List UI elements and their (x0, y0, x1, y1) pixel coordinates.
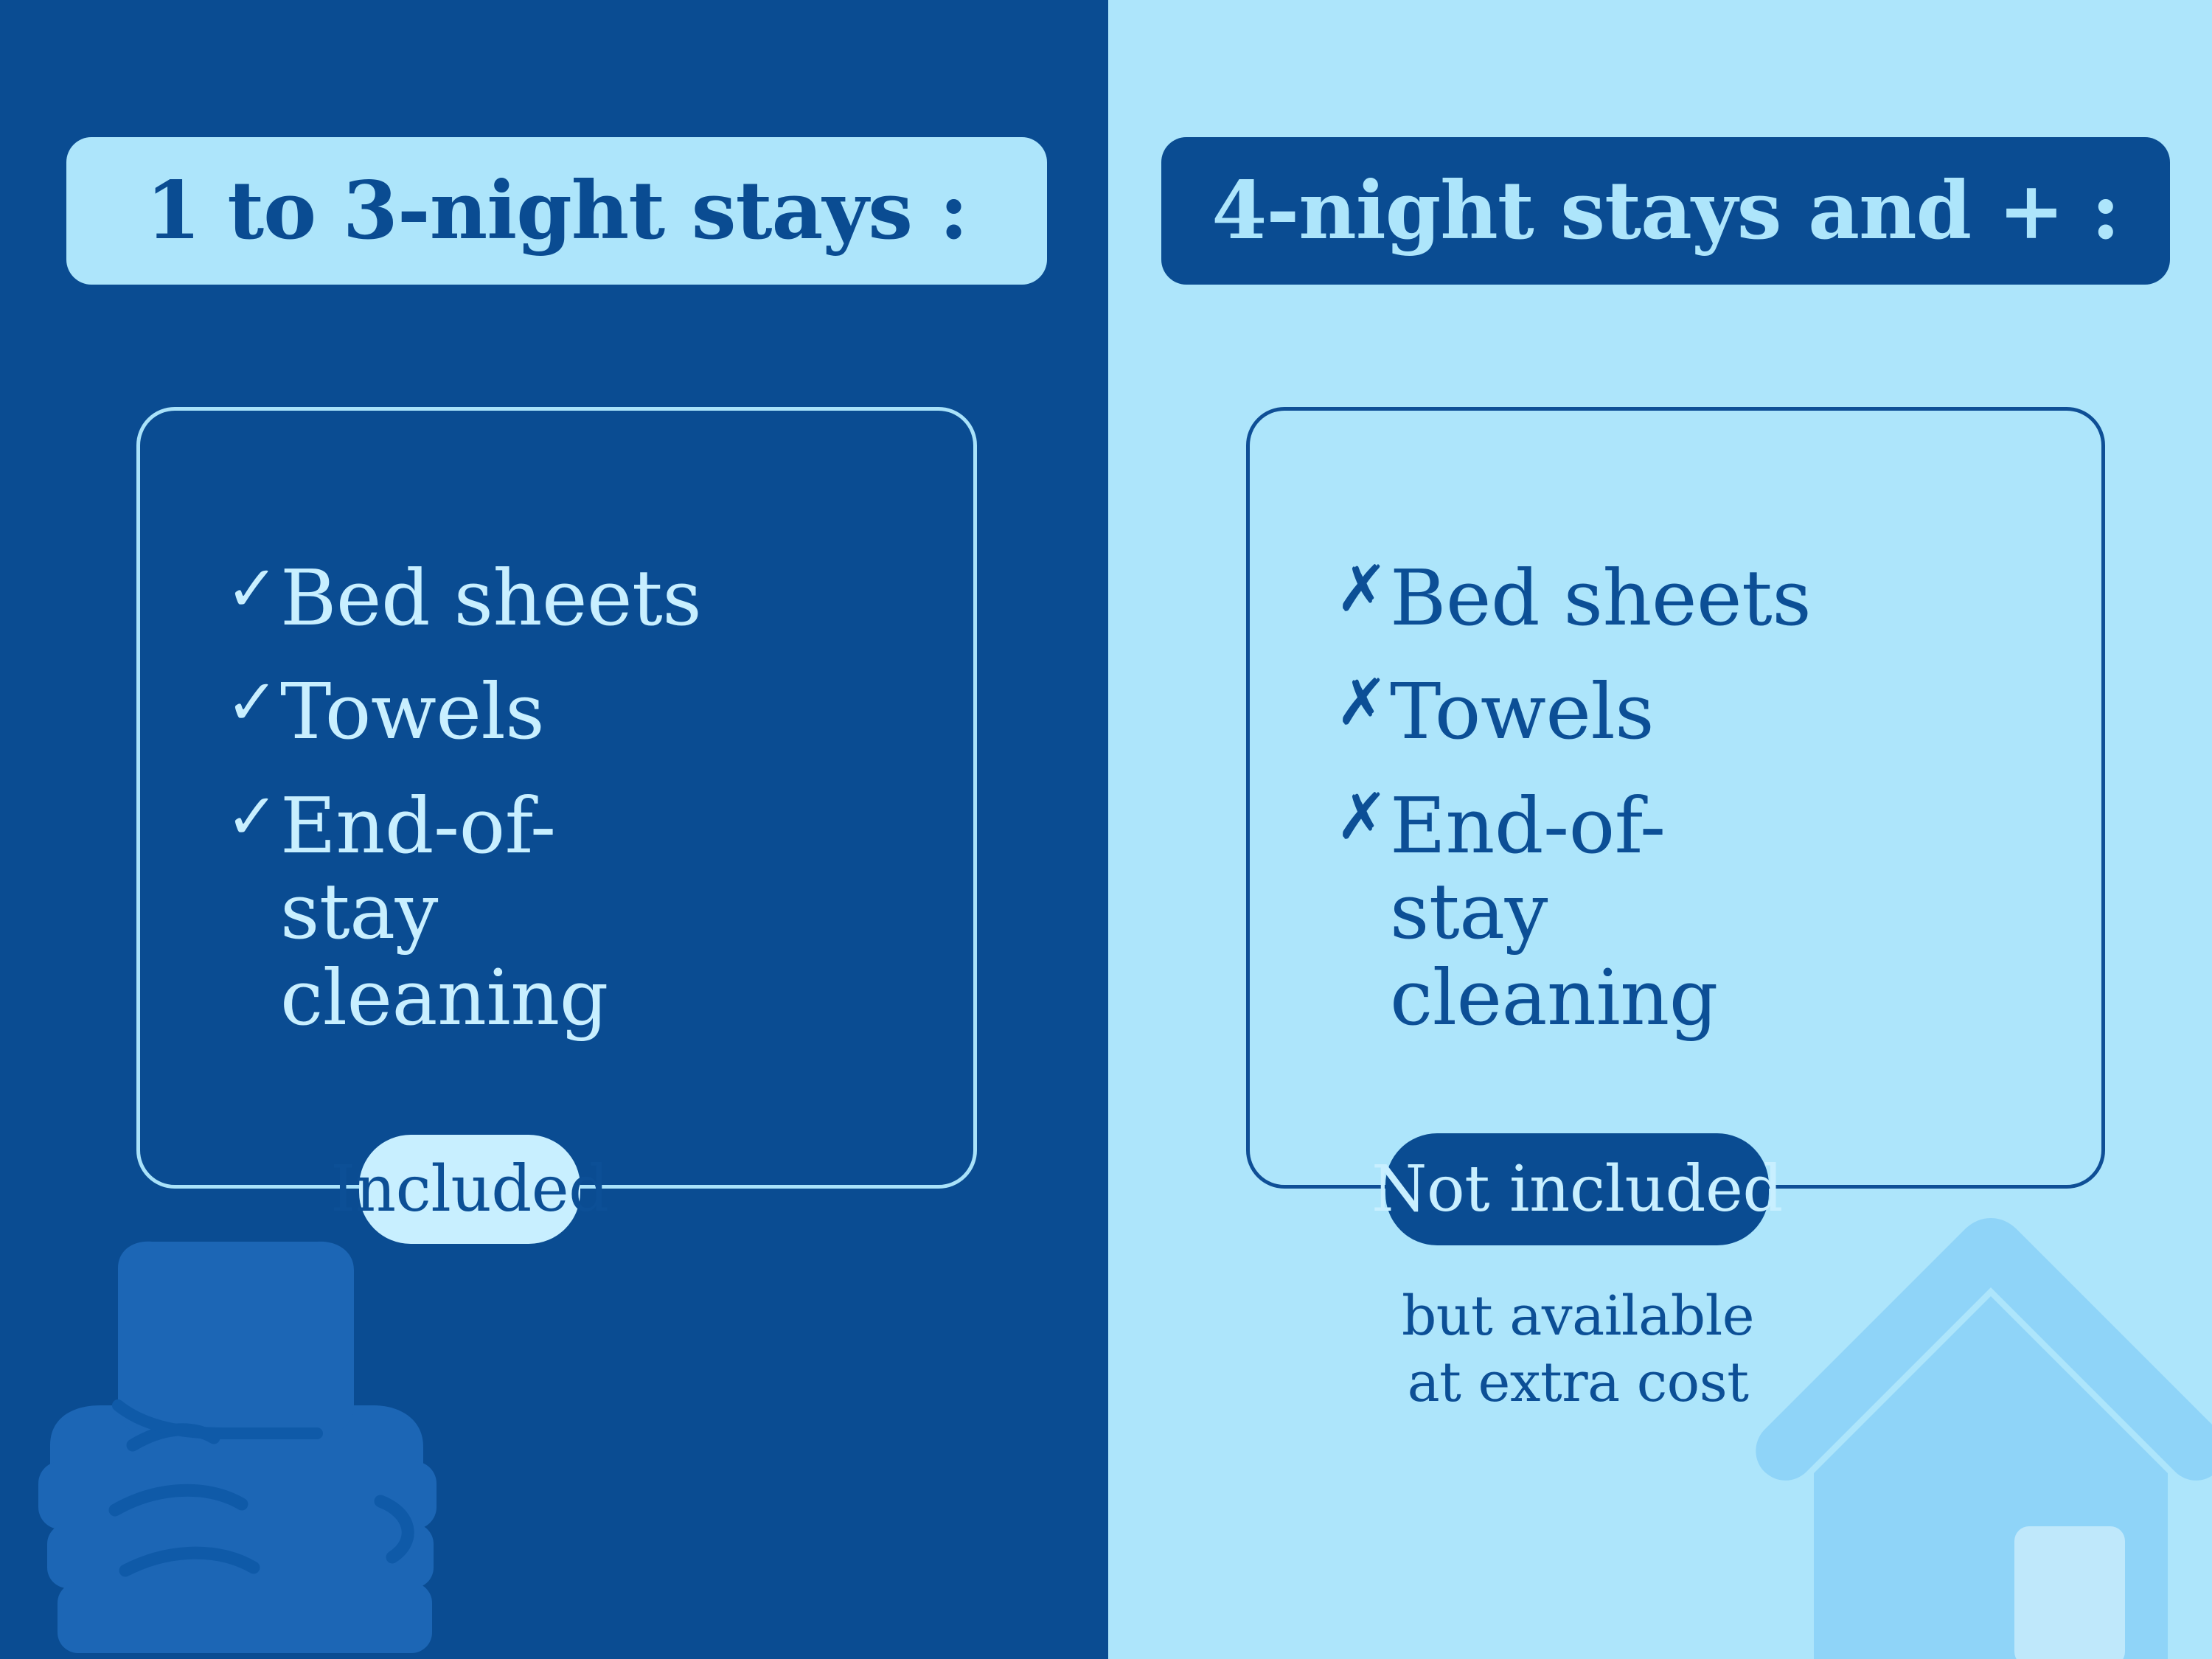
list-item: ✗ End-of-stay cleaning (1335, 783, 2101, 1040)
list-item-label: Bed sheets (280, 555, 701, 641)
list-item-label: Bed sheets (1390, 555, 1811, 641)
feature-list-short-stays: ✓ Bed sheets ✓ Towels ✓ End-of-stay clea… (140, 555, 973, 1040)
house-icon (1755, 1209, 2212, 1659)
list-item-label: End-of-stay cleaning (280, 783, 693, 1040)
extra-cost-note-line-2: at extra cost (1386, 1349, 1770, 1416)
cross-icon: ✗ (1335, 669, 1390, 737)
feature-list-long-stays: ✗ Bed sheets ✗ Towels ✗ End-of-stay clea… (1250, 555, 2101, 1040)
panel-header-short-stays: 1 to 3-night stays : (66, 137, 1047, 285)
feature-card-short-stays: ✓ Bed sheets ✓ Towels ✓ End-of-stay clea… (136, 407, 977, 1189)
status-badge-not-included: Not included (1385, 1133, 1769, 1245)
list-item: ✗ Bed sheets (1335, 555, 2101, 641)
check-icon: ✓ (226, 555, 280, 624)
list-item: ✓ Bed sheets (226, 555, 973, 641)
panel-short-stays: 1 to 3-night stays : ✓ Bed sheets ✓ Towe… (0, 0, 1108, 1659)
cross-icon: ✗ (1335, 783, 1390, 852)
list-item: ✓ Towels (226, 669, 973, 754)
list-item-label: Towels (1390, 669, 1654, 754)
panel-header-long-stays: 4-night stays and + : (1161, 137, 2170, 285)
status-badge-included: Included (359, 1135, 580, 1244)
cross-icon: ✗ (1335, 555, 1390, 624)
folded-linens-icon (0, 1224, 501, 1659)
infographic-root: 1 to 3-night stays : ✓ Bed sheets ✓ Towe… (0, 0, 2212, 1659)
feature-card-long-stays: ✗ Bed sheets ✗ Towels ✗ End-of-stay clea… (1246, 407, 2105, 1189)
list-item: ✗ Towels (1335, 669, 2101, 754)
check-icon: ✓ (226, 783, 280, 852)
extra-cost-note: but available at extra cost (1386, 1283, 1770, 1416)
list-item-label: Towels (280, 669, 544, 754)
extra-cost-note-line-1: but available (1386, 1283, 1770, 1349)
list-item-label: End-of-stay cleaning (1390, 783, 1803, 1040)
list-item: ✓ End-of-stay cleaning (226, 783, 973, 1040)
check-icon: ✓ (226, 669, 280, 737)
